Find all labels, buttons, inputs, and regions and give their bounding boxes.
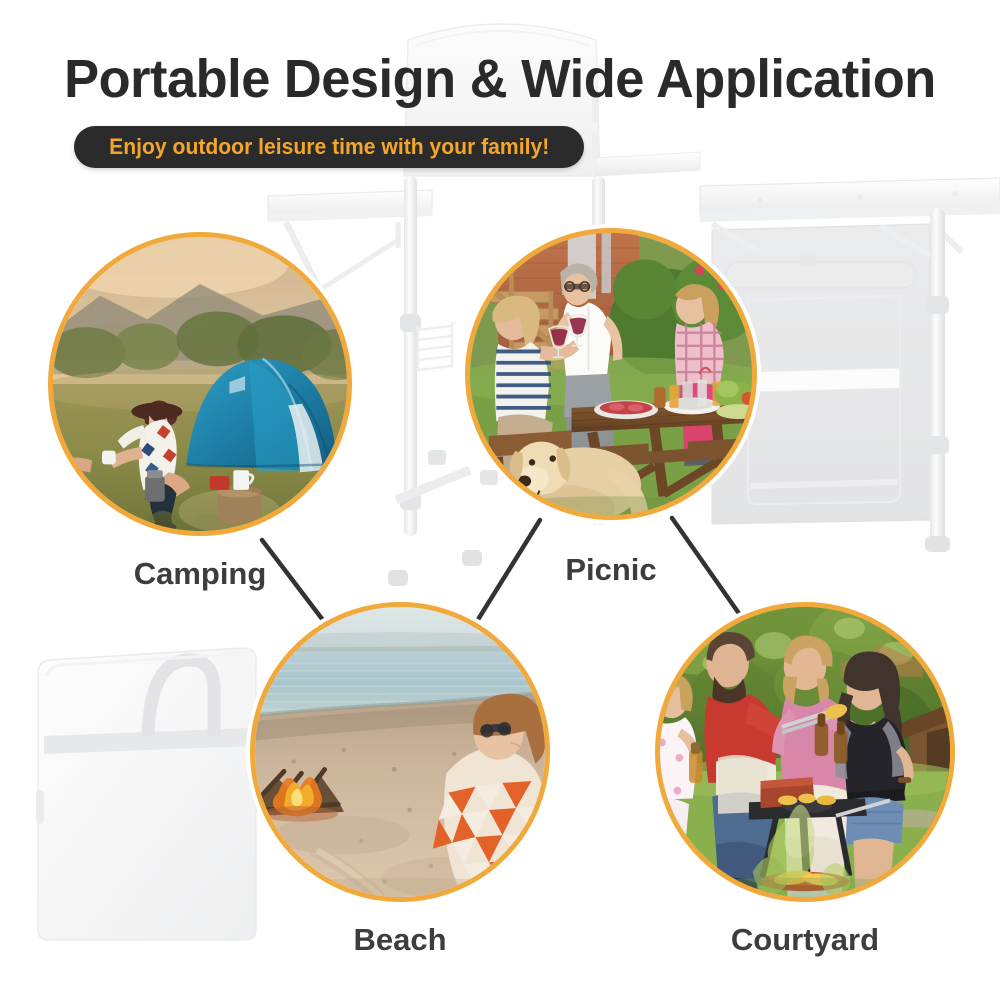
infographic-canvas: Portable Design & Wide Application Enjoy… xyxy=(0,0,1000,1000)
page-title: Portable Design & Wide Application xyxy=(15,52,985,106)
caption-courtyard: Courtyard xyxy=(655,922,955,958)
caption-beach: Beach xyxy=(250,922,550,958)
subtitle-text: Enjoy outdoor leisure time with your fam… xyxy=(109,134,549,160)
caption-camping: Camping xyxy=(48,556,352,592)
picnic-photo xyxy=(470,233,752,515)
subtitle-badge: Enjoy outdoor leisure time with your fam… xyxy=(74,126,584,168)
scene-circle-beach[interactable] xyxy=(250,602,550,902)
courtyard-photo xyxy=(660,607,950,897)
scene-circle-courtyard[interactable] xyxy=(655,602,955,902)
caption-picnic: Picnic xyxy=(465,552,757,588)
beach-photo xyxy=(255,607,545,897)
scene-circle-picnic[interactable] xyxy=(465,228,757,520)
camping-photo xyxy=(53,237,347,531)
scene-circle-camping[interactable] xyxy=(48,232,352,536)
